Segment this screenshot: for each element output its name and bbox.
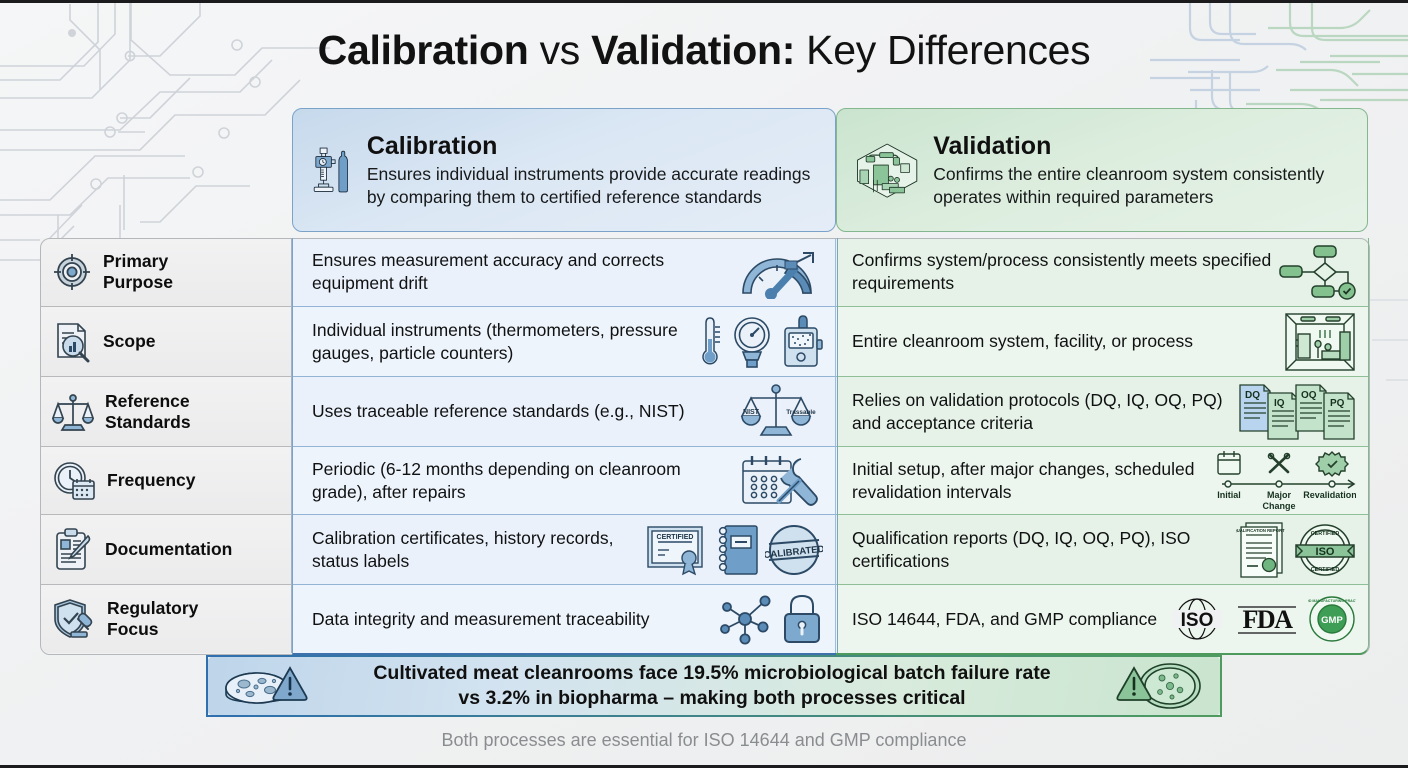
row-calibration-icons <box>739 453 823 509</box>
particle-counter-icon <box>781 315 823 369</box>
iq-label: IQ <box>1274 398 1285 409</box>
row-calibration-icons <box>737 245 823 299</box>
row-label-cell: ReferenceStandards <box>40 376 292 446</box>
gmp-badge-icon: GMP GOOD MANUFACTURING PRACTICE <box>1308 595 1356 643</box>
row-calibration-cell: Periodic (6-12 months depending on clean… <box>292 446 836 514</box>
iso-seal-label: ISO <box>1316 546 1335 558</box>
row-validation-text: Initial setup, after major changes, sche… <box>852 458 1208 504</box>
row-label-text: PrimaryPurpose <box>103 251 173 293</box>
table-row: PrimaryPurpose Ensures measurement accur… <box>40 238 1368 306</box>
header-validation-desc: Confirms the entire cleanroom system con… <box>933 163 1351 209</box>
header-calibration-title: Calibration <box>367 131 819 161</box>
row-label-cell: RegulatoryFocus <box>40 584 292 653</box>
timeline-label-change: Change <box>1262 501 1295 511</box>
header-validation: Validation Confirms the entire cleanroom… <box>836 108 1368 232</box>
row-label-cell: PrimaryPurpose <box>40 238 292 306</box>
row-label-text: Documentation <box>105 539 232 560</box>
report-icon: QUALIFICATION REPORT <box>1236 521 1288 579</box>
timeline-label-initial: Initial <box>1217 490 1241 500</box>
dq-label: DQ <box>1245 390 1260 401</box>
row-calibration-text: Uses traceable reference standards (e.g.… <box>312 400 685 423</box>
row-validation-icons: ISO FDA G <box>1168 595 1356 643</box>
petri-dish-warning-green-icon <box>1114 660 1206 712</box>
document-magnifier-icon <box>52 321 92 363</box>
row-label-cell: Scope <box>40 306 292 376</box>
row-validation-icons: Initial Major Change Revalidation <box>1208 450 1356 512</box>
header-calibration-desc: Ensures individual instruments provide a… <box>367 163 819 209</box>
title-part-validation: Validation: <box>591 27 795 73</box>
logbook-icon <box>713 522 759 578</box>
cleanroom-facility-icon <box>1284 312 1356 372</box>
row-calibration-cell: Ensures measurement accuracy and correct… <box>292 238 836 306</box>
protocol-documents-icon: DQ IQ OQ PQ <box>1238 381 1356 443</box>
row-validation-cell: Entire cleanroom system, facility, or pr… <box>836 306 1368 376</box>
row-calibration-text: Data integrity and measurement traceabil… <box>312 608 650 631</box>
callout-text: Cultivated meat cleanrooms face 19.5% mi… <box>318 661 1106 711</box>
clock-calendar-icon <box>52 460 96 502</box>
cleanroom-isometric-icon <box>855 122 919 218</box>
row-calibration-icons <box>719 592 823 646</box>
row-calibration-cell: Data integrity and measurement traceabil… <box>292 584 836 653</box>
report-header-label: QUALIFICATION REPORT <box>1236 528 1285 533</box>
row-validation-cell: Relies on validation protocols (DQ, IQ, … <box>836 376 1368 446</box>
row-validation-cell: Qualification reports (DQ, IQ, OQ, PQ), … <box>836 514 1368 584</box>
thermometer-icon <box>699 315 723 369</box>
calendar-wrench-icon <box>739 453 823 509</box>
row-calibration-text: Individual instruments (thermometers, pr… <box>312 319 699 365</box>
lock-icon <box>781 592 823 646</box>
row-label-text: ReferenceStandards <box>105 391 191 433</box>
table-row: Scope Individual instruments (thermomete… <box>40 306 1368 376</box>
table-body: PrimaryPurpose Ensures measurement accur… <box>40 238 1368 653</box>
timeline-icon: Initial Major Change Revalidation <box>1208 450 1356 512</box>
row-label-text: Frequency <box>107 470 196 491</box>
table-row: Documentation Calibration certificates, … <box>40 514 1368 584</box>
title-part-suffix: Key Differences <box>795 27 1090 73</box>
network-nodes-icon <box>719 593 775 645</box>
row-label-text: Scope <box>103 331 156 352</box>
pq-label: PQ <box>1330 398 1345 409</box>
row-validation-icons: DQ IQ OQ PQ <box>1238 381 1356 443</box>
shield-gavel-icon <box>52 597 96 641</box>
gmp-text: GMP <box>1321 615 1343 626</box>
row-validation-text: Qualification reports (DQ, IQ, OQ, PQ), … <box>852 527 1236 573</box>
traceable-label: Trassable <box>786 409 816 416</box>
fda-text: FDA <box>1243 605 1294 634</box>
header-calibration: Calibration Ensures individual instrumen… <box>292 108 836 232</box>
certified-bottom-label: CERTIFIED <box>1311 567 1340 573</box>
row-calibration-icons: NIST Trassable <box>729 383 823 441</box>
table-row: Frequency Periodic (6-12 months dependin… <box>40 446 1368 514</box>
timeline-label-revalidation: Revalidation <box>1303 490 1356 500</box>
calibrated-stamp-icon: CALIBRATED <box>765 522 823 578</box>
row-calibration-cell: Uses traceable reference standards (e.g.… <box>292 376 836 446</box>
page-title: Calibration vs Validation: Key Differenc… <box>0 26 1408 74</box>
title-part-vs: vs <box>528 27 591 73</box>
comparison-table: Calibration Ensures individual instrumen… <box>40 108 1368 653</box>
row-label-cell: Frequency <box>40 446 292 514</box>
oq-label: OQ <box>1301 390 1317 401</box>
row-validation-icons: QUALIFICATION REPORT ISO CERTIFIED <box>1236 521 1356 579</box>
fda-logo-icon: FDA <box>1232 597 1302 641</box>
nist-traceable-scale-icon: NIST Trassable <box>729 383 823 441</box>
row-calibration-text: Calibration certificates, history record… <box>312 527 645 573</box>
target-icon <box>52 252 92 292</box>
clipboard-pen-icon <box>52 528 94 572</box>
petri-dish-warning-blue-icon <box>222 660 310 712</box>
row-validation-cell: Confirms system/process consistently mee… <box>836 238 1368 306</box>
gauge-icon <box>737 245 823 299</box>
row-validation-cell: ISO 14644, FDA, and GMP compliance ISO <box>836 584 1368 653</box>
callout-banner: Cultivated meat cleanrooms face 19.5% mi… <box>206 655 1222 717</box>
row-calibration-cell: Calibration certificates, history record… <box>292 514 836 584</box>
flowchart-check-icon <box>1278 244 1356 300</box>
row-validation-text: ISO 14644, FDA, and GMP compliance <box>852 608 1157 631</box>
gmp-ring-label: GOOD MANUFACTURING PRACTICE <box>1308 599 1356 603</box>
footer-text: Both processes are essential for ISO 146… <box>0 730 1408 751</box>
balance-scale-icon <box>52 391 94 433</box>
table-row: ReferenceStandards Uses traceable refere… <box>40 376 1368 446</box>
row-calibration-text: Ensures measurement accuracy and correct… <box>312 249 737 295</box>
row-label-text: RegulatoryFocus <box>107 598 198 640</box>
top-edge-bar <box>0 0 1408 3</box>
row-calibration-icons: CERTIFIED <box>645 522 823 578</box>
row-validation-text: Relies on validation protocols (DQ, IQ, … <box>852 389 1238 435</box>
certified-label: CERTIFIED <box>657 534 694 541</box>
row-validation-icons <box>1284 312 1356 372</box>
row-calibration-text: Periodic (6-12 months depending on clean… <box>312 458 739 504</box>
certificate-icon: CERTIFIED <box>645 522 707 578</box>
pressure-gauge-icon <box>729 315 775 369</box>
certified-top-label: CERTIFIED <box>1311 531 1340 537</box>
table-row: RegulatoryFocus Data integrity and measu… <box>40 584 1368 653</box>
row-validation-text: Confirms system/process consistently mee… <box>852 249 1278 295</box>
row-validation-icons <box>1278 244 1356 300</box>
row-label-cell: Documentation <box>40 514 292 584</box>
row-calibration-cell: Individual instruments (thermometers, pr… <box>292 306 836 376</box>
timeline-label-major: Major <box>1267 490 1292 500</box>
iso-text: ISO <box>1181 610 1214 631</box>
row-calibration-icons <box>699 315 823 369</box>
row-validation-text: Entire cleanroom system, facility, or pr… <box>852 330 1193 353</box>
iso-logo-icon: ISO <box>1168 597 1226 641</box>
calibration-equipment-icon <box>311 124 353 216</box>
title-part-calibration: Calibration <box>318 27 529 73</box>
callout-line2: vs 3.2% in biopharma – making both proce… <box>458 687 965 709</box>
header-validation-title: Validation <box>933 131 1351 161</box>
callout-line1: Cultivated meat cleanrooms face 19.5% mi… <box>373 662 1050 684</box>
nist-label: NIST <box>743 409 760 416</box>
iso-certified-seal-icon: ISO CERTIFIED CERTIFIED <box>1294 521 1356 579</box>
row-validation-cell: Initial setup, after major changes, sche… <box>836 446 1368 514</box>
